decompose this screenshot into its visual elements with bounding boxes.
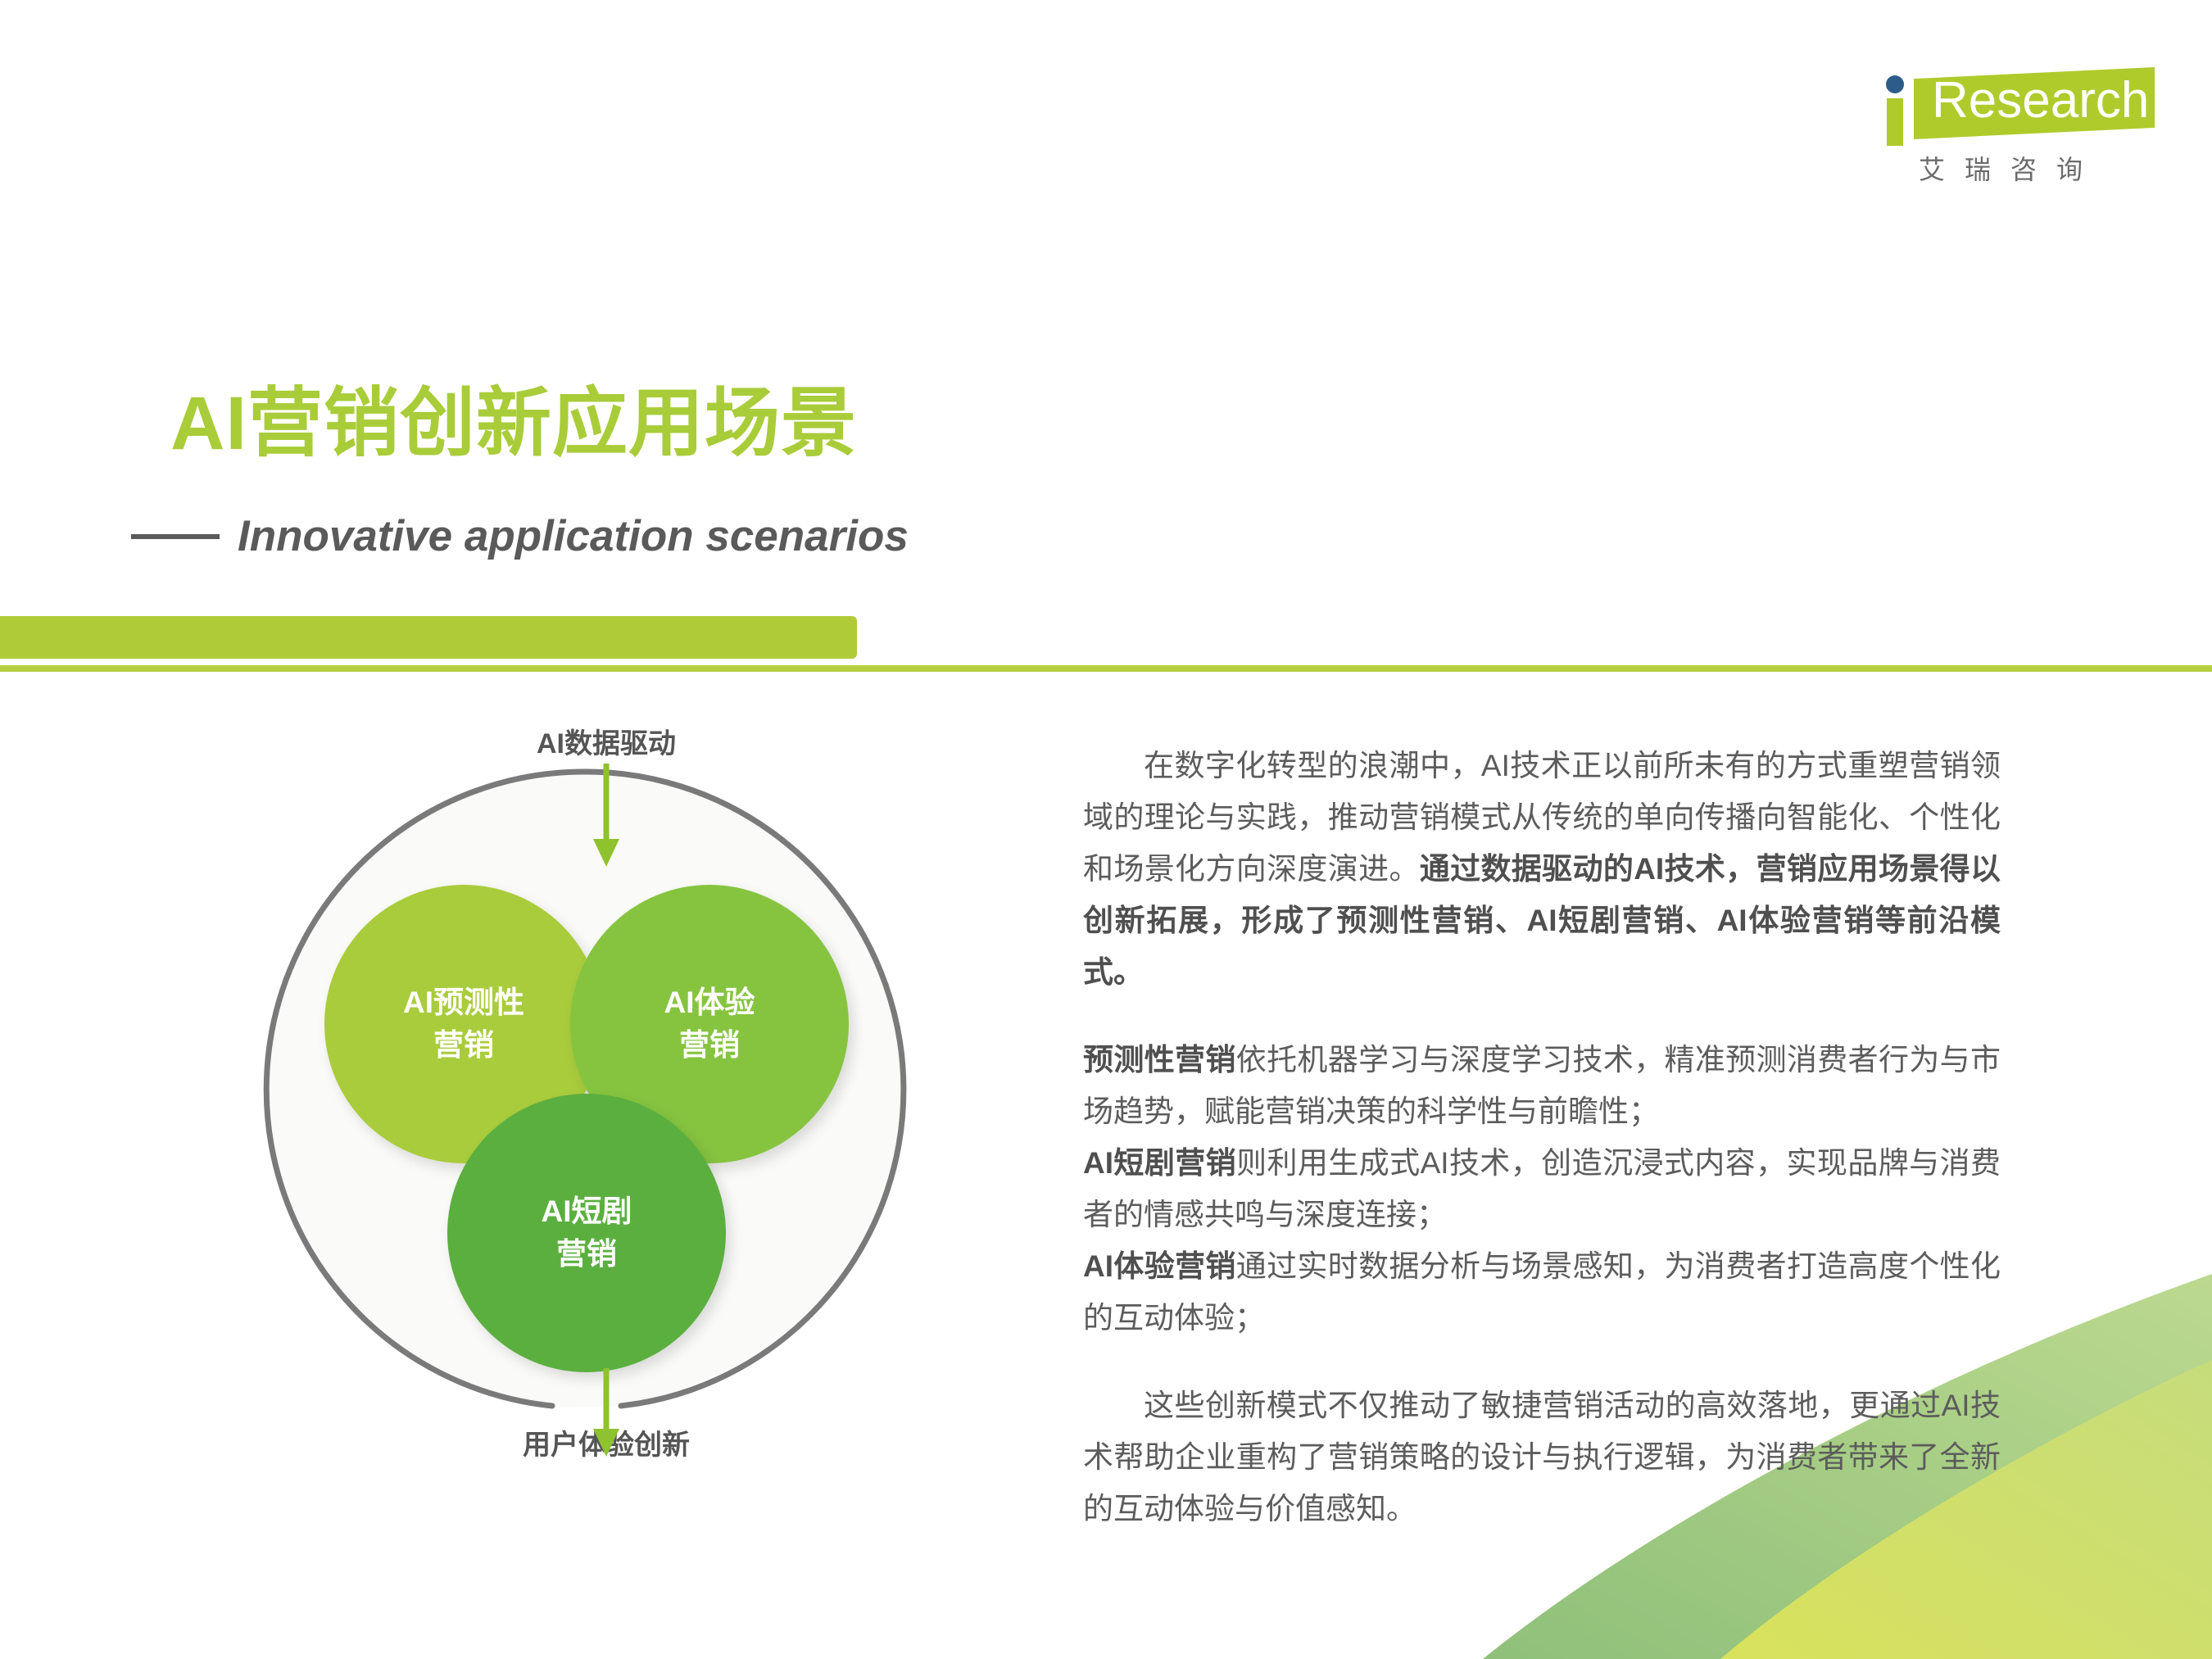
logo-chinese-name: 艾瑞咨询 xyxy=(1919,149,2102,187)
slide-canvas: Research 艾瑞咨询 AI营销创新应用场景 Innovative appl… xyxy=(0,0,2212,1659)
circle-label-line2: 营销 xyxy=(556,1233,617,1276)
paragraph-predictive: 预测性营销依托机器学习与深度学习技术，精准预测消费者行为与市场趋势，赋能营销决策… xyxy=(1083,1034,2001,1137)
paragraph-spacer xyxy=(1083,998,2001,1034)
circle-label-line2: 营销 xyxy=(679,1024,740,1067)
paragraph-conclusion: 这些创新模式不仅推动了敏捷营销活动的高效落地，更通过AI技术帮助企业重构了营销策… xyxy=(1083,1380,2001,1534)
logo-wordmark: Research xyxy=(1932,75,2149,126)
scenario-diagram: AI数据驱动 AI预测性 营销 AI体验 营销 AI短剧 营销 xyxy=(238,721,975,1458)
term-experience-marketing: AI体验营销 xyxy=(1083,1249,1236,1283)
title-accent-bar xyxy=(0,616,857,659)
paragraph-intro: 在数字化转型的浪潮中，AI技术正以前所未有的方式重塑营销领域的理论与实践，推动营… xyxy=(1083,740,2001,998)
circle-label-line1: AI预测性 xyxy=(403,981,524,1024)
term-short-drama-marketing: AI短剧营销 xyxy=(1083,1146,1236,1180)
arrow-down-bottom-icon xyxy=(588,1368,624,1458)
body-copy: 在数字化转型的浪潮中，AI技术正以前所未有的方式重塑营销领域的理论与实践，推动营… xyxy=(1083,740,2001,1534)
circle-label-line1: AI短剧 xyxy=(542,1190,632,1233)
paragraph-experience: AI体验营销通过实时数据分析与场景感知，为消费者打造高度个性化的互动体验； xyxy=(1083,1240,2001,1344)
term-predictive-marketing: 预测性营销 xyxy=(1083,1043,1236,1077)
paragraph-short-drama: AI短剧营销则利用生成式AI技术，创造沉浸式内容，实现品牌与消费者的情感共鸣与深… xyxy=(1083,1137,2001,1240)
page-subtitle: Innovative application scenarios xyxy=(238,512,909,561)
circle-ai-short-drama-marketing[interactable]: AI短剧 营销 xyxy=(447,1094,726,1372)
header-divider-rule xyxy=(0,665,2212,672)
logo-dot-icon xyxy=(1886,75,1904,93)
subtitle-row: Innovative application scenarios xyxy=(131,512,909,561)
subtitle-dash-icon xyxy=(131,534,220,539)
logo-i-stem-icon xyxy=(1887,98,1903,146)
page-title: AI营销创新应用场景 xyxy=(170,383,857,465)
arrow-down-top-icon xyxy=(588,764,624,868)
circle-label-line2: 营销 xyxy=(433,1024,494,1067)
circle-label-line1: AI体验 xyxy=(664,981,755,1024)
paragraph-spacer xyxy=(1083,1344,2001,1380)
iresearch-logo: Research 艾瑞咨询 xyxy=(1884,64,2155,195)
